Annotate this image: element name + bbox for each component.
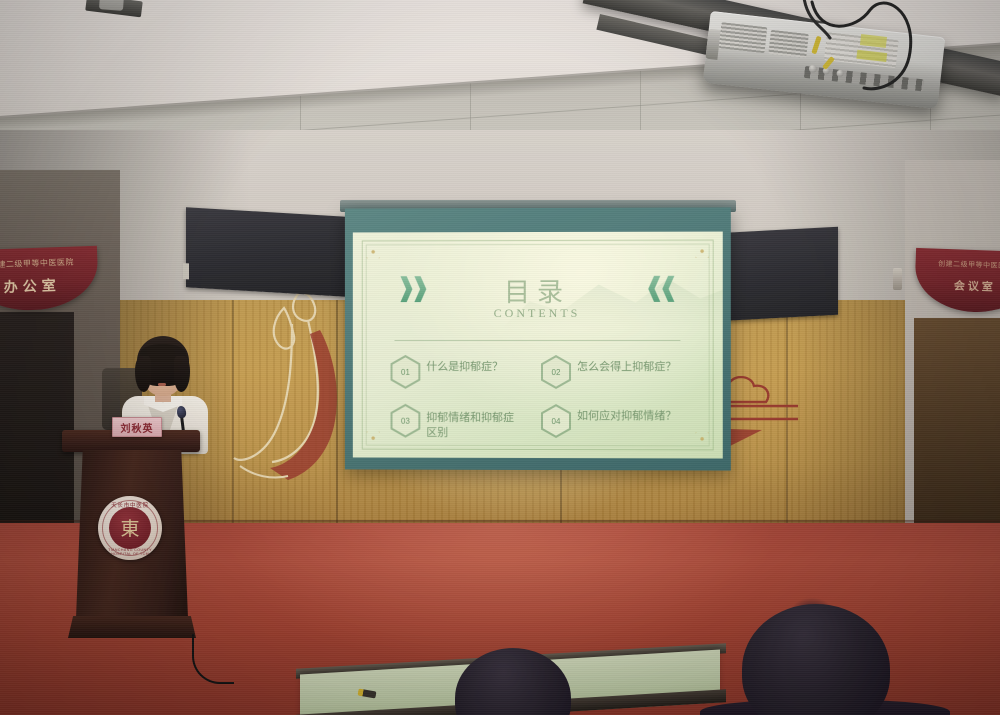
panel-clip — [183, 263, 189, 279]
wall-ribbon-motif-icon — [232, 290, 352, 490]
speaker-podium: 刘秋英 天长市中医院 東 1954 TIANCHANG COUNTY HOSPI… — [64, 430, 198, 650]
slide-title-chinese: 目录 — [353, 272, 723, 309]
wall-sign-left-subtitle: 创建二级甲等中医医院 — [0, 256, 98, 272]
toc-item-04: 04 如何应对抑郁情绪？ — [541, 403, 693, 438]
presenter-mouth — [158, 383, 166, 386]
hospital-emblem: 天长市中医院 東 1954 TIANCHANG COUNTY HOSPITAL … — [98, 496, 162, 560]
presenter-hair-left — [135, 356, 151, 392]
wall-sconce-light — [893, 268, 902, 290]
slide-corner-ornament-icon — [367, 245, 380, 258]
wall-sign-right-title: 会议室 — [915, 276, 1000, 296]
hexagon-number-icon: 01 — [391, 355, 421, 389]
acoustic-panel-left — [186, 207, 346, 297]
emblem-year: 1954 — [109, 530, 151, 535]
toc-row: 03 抑郁情绪和抑郁症区别 04 如何应对抑郁情绪？ — [391, 403, 693, 442]
lecture-hall-photo: 创建二级甲等中医医院 办公室 创建二级甲等中医医院 会议室 目录 CO — [0, 0, 1000, 715]
right-door[interactable] — [914, 318, 1000, 533]
slide-divider — [395, 340, 681, 341]
wall-sign-right-subtitle: 创建二级甲等中医医院 — [915, 258, 1000, 272]
speaker-name: 刘秋英 — [121, 420, 154, 435]
toc-number: 02 — [552, 368, 561, 377]
hexagon-number-icon: 03 — [391, 404, 421, 438]
toc-label: 抑郁情绪和抑郁症区别 — [426, 403, 518, 441]
toc-number: 03 — [401, 416, 410, 425]
projection-screen: 目录 CONTENTS 01 什么是抑郁症？ 02 怎么会得上抑 — [345, 207, 731, 470]
slide-corner-ornament-icon — [367, 432, 380, 445]
toc-label: 怎么会得上抑郁症？ — [577, 354, 676, 375]
toc-label: 什么是抑郁症？ — [426, 354, 503, 375]
presenter-hair-right — [174, 356, 190, 392]
toc-number: 04 — [552, 417, 561, 426]
projector-cable-icon — [760, 0, 940, 126]
slide-corner-ornament-icon — [696, 245, 709, 258]
toc-item-03: 03 抑郁情绪和抑郁症区别 — [391, 403, 541, 441]
toc-item-02: 02 怎么会得上抑郁症？ — [541, 354, 693, 389]
slide-title-english: CONTENTS — [353, 306, 723, 321]
acoustic-panel-right — [716, 227, 838, 321]
slide-table-of-contents: 01 什么是抑郁症？ 02 怎么会得上抑郁症？ 03 — [391, 354, 693, 455]
emblem-center-disc: 東 1954 — [109, 507, 151, 549]
presentation-slide: 目录 CONTENTS 01 什么是抑郁症？ 02 怎么会得上抑 — [353, 232, 723, 459]
toc-number: 01 — [401, 367, 410, 376]
projector-mount-pole — [99, 0, 125, 11]
podium-base — [68, 616, 196, 638]
emblem-name-english: TIANCHANG COUNTY HOSPITAL OF TCM — [98, 548, 162, 556]
hexagon-number-icon: 04 — [541, 404, 571, 438]
toc-label: 如何应对抑郁情绪？ — [577, 403, 676, 424]
speaker-nameplate: 刘秋英 — [112, 417, 162, 437]
toc-item-01: 01 什么是抑郁症？ — [391, 354, 541, 389]
toc-row: 01 什么是抑郁症？ 02 怎么会得上抑郁症？ — [391, 354, 693, 389]
slide-corner-ornament-icon — [696, 432, 709, 445]
hexagon-number-icon: 02 — [541, 355, 571, 389]
left-doorway[interactable] — [0, 312, 74, 532]
